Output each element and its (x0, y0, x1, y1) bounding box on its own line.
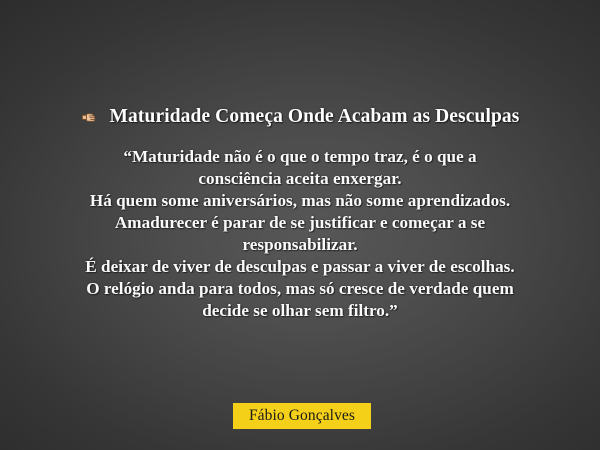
quote-line: responsabilizar. (20, 234, 580, 256)
quote-line: O relógio anda para todos, mas só cresce… (20, 278, 580, 300)
quote-card: Maturidade Começa Onde Acabam as Desculp… (0, 0, 600, 450)
author-name: Fábio Gonçalves (249, 407, 355, 425)
quote-line: É deixar de viver de desculpas e passar … (20, 256, 580, 278)
quote-title-text: Maturidade Começa Onde Acabam as Desculp… (110, 106, 520, 128)
quote-text-block: “Maturidade não é o que o tempo traz, é … (20, 146, 580, 322)
quote-line: Amadurecer é parar de se justificar e co… (20, 212, 580, 234)
quote-line: decide se olhar sem filtro.” (20, 300, 580, 322)
quote-line: Há quem some aniversários, mas não some … (20, 190, 580, 212)
quote-line: “Maturidade não é o que o tempo traz, é … (20, 146, 580, 168)
author-badge: Fábio Gonçalves (233, 403, 371, 429)
quote-title: Maturidade Começa Onde Acabam as Desculp… (0, 106, 600, 128)
pointing-hand-right-icon (81, 106, 103, 128)
quote-line: consciência aceita enxergar. (20, 168, 580, 190)
